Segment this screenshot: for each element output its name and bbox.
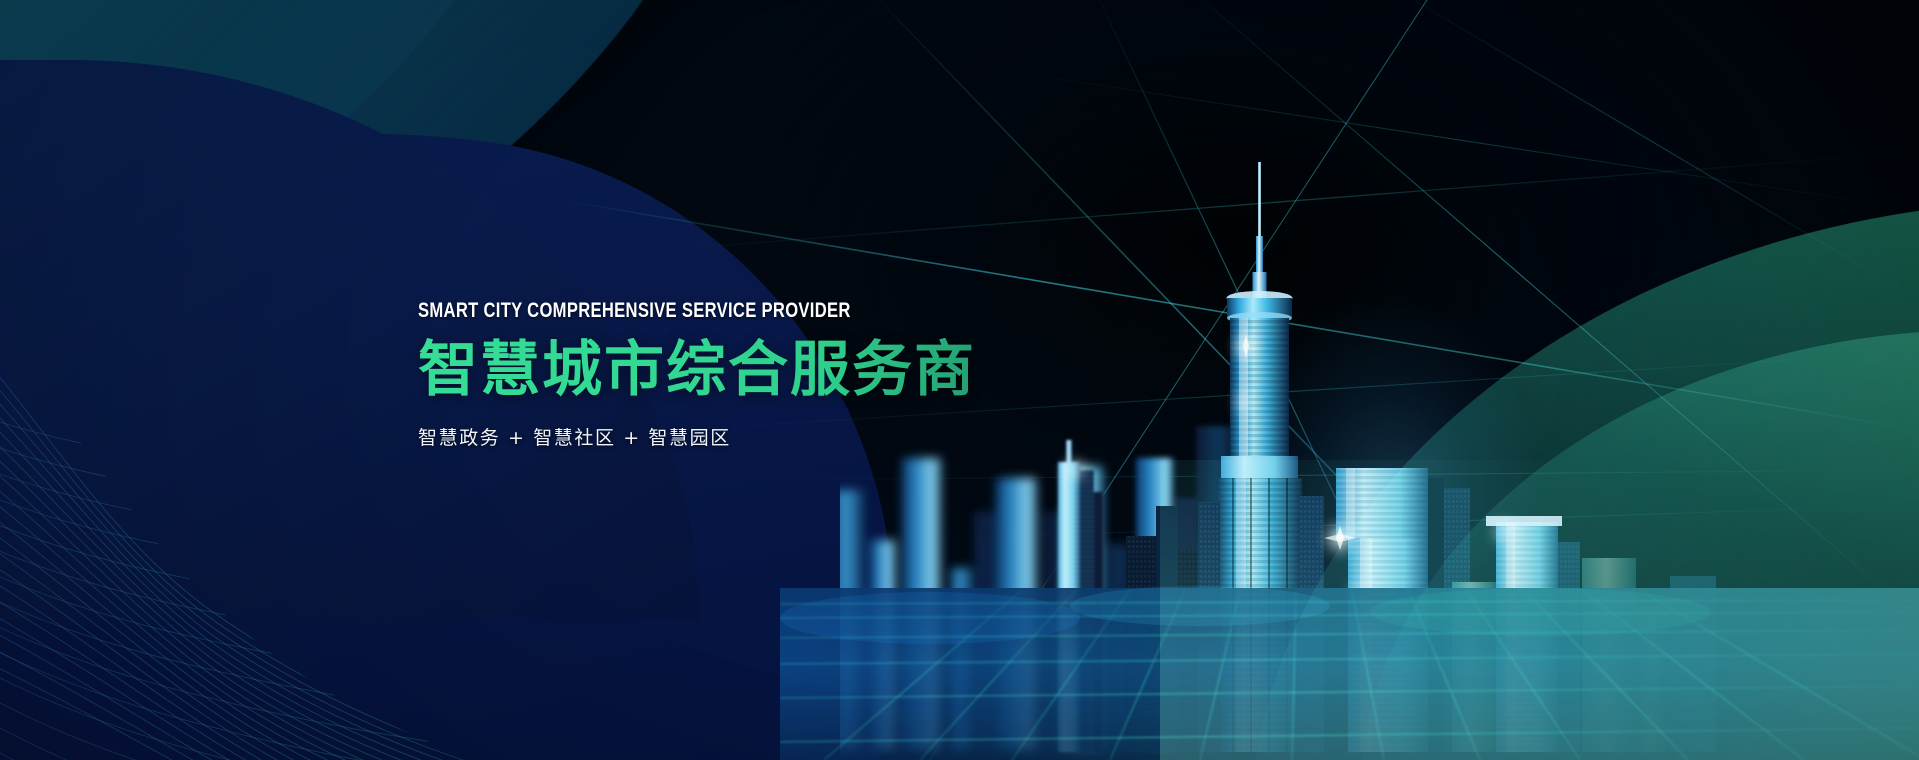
3d-city-skyline [840,140,1720,760]
subtitle: 智慧政务 + 智慧社区 + 智慧园区 [418,423,1118,450]
eyebrow-english-tagline: SMART CITY COMPREHENSIVE SERVICE PROVIDE… [418,300,971,322]
green-bottom-glow [1160,460,1919,760]
tower-glow [1180,210,1600,730]
green-gradient-sweep [1249,200,1919,760]
green-gradient-sweep-inner [1359,330,1919,760]
hero-text-block: SMART CITY COMPREHENSIVE SERVICE PROVIDE… [418,300,1118,450]
page-title: 智慧城市综合服务商 [418,338,1118,403]
perspective-grid-floor [780,560,1919,760]
hero-banner: SMART CITY COMPREHENSIVE SERVICE PROVIDE… [0,0,1919,760]
